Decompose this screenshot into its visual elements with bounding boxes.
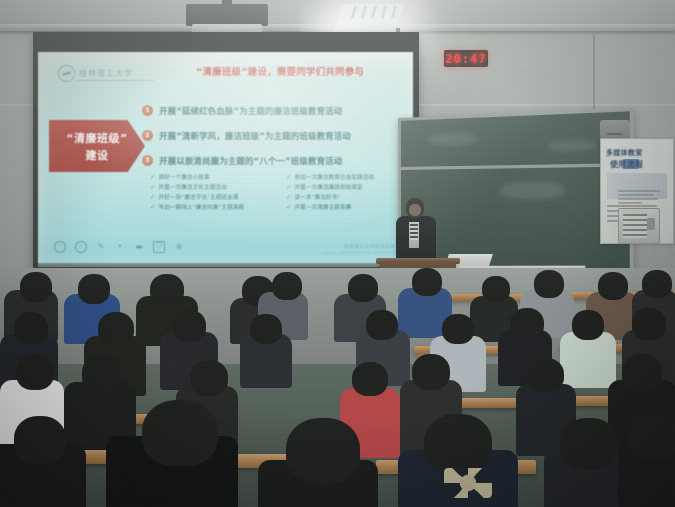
checklist-text: 讲好一个廉洁小故事 xyxy=(158,173,209,181)
breaker-switch-rows[interactable] xyxy=(623,214,647,238)
point-text: 开展“延续红色血脉”为主题的廉洁班级教育活动 xyxy=(159,105,342,117)
seated-students xyxy=(0,268,675,507)
banner-line-1: “清廉班级” xyxy=(66,130,127,146)
checklist-item: ✓ 写出一期线上“廉洁向廉”主题海报 xyxy=(150,202,270,212)
checklist-right-column: ✓ 参加一次廉洁教育社会实践活动 ✓ 开展一次廉洁廉政规矩规定 ✓ 读一本“廉洁… xyxy=(286,172,406,212)
presenter-face xyxy=(409,204,421,216)
point-item: 2 开展“清新学风，廉洁班级”为主题的班级教育活动 xyxy=(142,123,404,148)
projected-slide[interactable]: 桂林理工大学 “清廉班级”建设，需要同学们共同参与 “清廉班级” 建设 1 开展… xyxy=(38,52,413,263)
checklist-text: 读一本“廉洁好书” xyxy=(294,193,340,201)
slide-banner: “清廉班级” 建设 xyxy=(49,120,145,172)
point-text: 开展“清新学风，廉洁班级”为主题的班级教育活动 xyxy=(159,130,351,142)
slide-footer-line-2: GUILIN UNIVERSITY OF TECHNOLOGY xyxy=(322,251,401,255)
check-icon: ✓ xyxy=(286,194,291,201)
checklist-item: ✓ 开展一次廉洁廉政规矩规定 xyxy=(286,182,406,192)
banner-line-2: 建设 xyxy=(86,147,109,163)
checklist-item: ✓ 讲好一个廉洁小故事 xyxy=(150,172,270,182)
slide-title: “清廉班级”建设，需要同学们共同参与 xyxy=(196,64,406,78)
point-text: 开展以崇清尚廉为主题的“八个一”班级教育活动 xyxy=(159,155,342,167)
more-options-icon[interactable]: ⊕ xyxy=(174,242,184,252)
projector-mount xyxy=(222,0,232,8)
presenter-toolbar[interactable]: ‹ › ✎ • ▬ ❐ ⊕ xyxy=(54,241,184,253)
checklist-text: 开好一场“廉洁守法”主题班会课 xyxy=(158,193,238,201)
tshirt-graphic xyxy=(444,468,492,498)
led-wall-clock: 20 : 47 xyxy=(444,50,488,67)
slide-checklist: ✓ 讲好一个廉洁小故事 ✓ 开展一次廉洁文化主题活动 ✓ 开好一场“廉洁守法”主… xyxy=(150,172,406,212)
electrical-breaker-panel[interactable] xyxy=(618,208,660,244)
slide-numbered-points: 1 开展“延续红色血脉”为主题的廉洁班级教育活动 2 开展“清新学风，廉洁班级”… xyxy=(142,98,404,173)
check-icon: ✓ xyxy=(286,174,291,181)
breaker-main-switch[interactable] xyxy=(647,218,655,230)
poster-title-line-1: 多媒体教室 xyxy=(606,148,643,158)
slide-footer: 桂林理工大学纪检监察室 GUILIN UNIVERSITY OF TECHNOL… xyxy=(322,244,401,255)
checklist-text: 开展一次清廉主题竞赛 xyxy=(294,203,351,211)
checklist-text: 写出一期线上“廉洁向廉”主题海报 xyxy=(158,203,244,211)
clock-separator: : xyxy=(462,52,470,66)
check-icon: ✓ xyxy=(286,184,291,191)
slide-thumbnails-icon[interactable]: ▬ xyxy=(134,242,144,252)
check-icon: ✓ xyxy=(150,194,155,201)
pen-annotation-icon[interactable]: ✎ xyxy=(96,242,106,252)
slide-footer-line-1: 桂林理工大学纪检监察室 xyxy=(322,244,401,250)
checklist-item: ✓ 开展一次廉洁文化主题活动 xyxy=(150,182,270,192)
clock-hours: 20 xyxy=(445,52,461,66)
checklist-item: ✓ 参加一次廉洁教育社会实践活动 xyxy=(286,172,406,182)
point-number: 2 xyxy=(142,130,153,141)
check-icon: ✓ xyxy=(150,204,155,211)
clock-minutes: 47 xyxy=(470,52,486,66)
university-crest-icon xyxy=(58,65,75,82)
point-item: 1 开展“延续红色血脉”为主题的廉洁班级教育活动 xyxy=(142,98,404,123)
breaker-label-text xyxy=(618,190,664,206)
checklist-item: ✓ 读一本“廉洁好书” xyxy=(286,192,406,202)
checklist-text: 参加一次廉洁教育社会实践活动 xyxy=(294,173,374,181)
zoom-slide-icon[interactable]: ❐ xyxy=(153,241,165,253)
check-icon: ✓ xyxy=(150,184,155,191)
lecture-hall-photo: 桂林理工大学 “清廉班级”建设，需要同学们共同参与 “清廉班级” 建设 1 开展… xyxy=(0,0,675,507)
logo-underline xyxy=(76,80,154,81)
point-item: 3 开展以崇清尚廉为主题的“八个一”班级教育活动 xyxy=(142,148,404,173)
university-name: 桂林理工大学 xyxy=(79,68,133,79)
point-number: 1 xyxy=(142,105,153,116)
checklist-left-column: ✓ 讲好一个廉洁小故事 ✓ 开展一次廉洁文化主题活动 ✓ 开好一场“廉洁守法”主… xyxy=(150,172,270,212)
laser-pointer-icon[interactable]: • xyxy=(115,242,125,252)
presenter-lanyard xyxy=(410,224,418,240)
check-icon: ✓ xyxy=(150,174,155,181)
checklist-item: ✓ 开展一次清廉主题竞赛 xyxy=(286,202,406,212)
previous-slide-icon[interactable]: ‹ xyxy=(54,241,66,253)
point-number: 3 xyxy=(142,155,153,166)
next-slide-icon[interactable]: › xyxy=(75,241,87,253)
poster-title-line-2: 使用流程 xyxy=(610,159,643,170)
wall-speaker xyxy=(600,120,630,140)
checklist-item: ✓ 开好一场“廉洁守法”主题班会课 xyxy=(150,192,270,202)
checklist-text: 开展一次廉洁文化主题活动 xyxy=(158,183,226,191)
checklist-text: 开展一次廉洁廉政规矩规定 xyxy=(294,183,362,191)
check-icon: ✓ xyxy=(286,204,291,211)
